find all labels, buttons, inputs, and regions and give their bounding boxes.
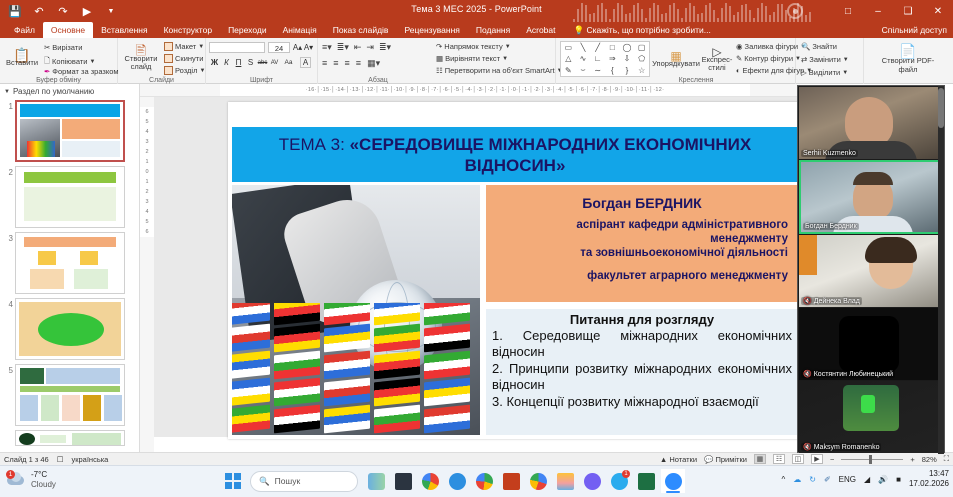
photo-flags — [232, 303, 480, 435]
powerpoint-icon[interactable] — [499, 469, 523, 493]
flag — [374, 405, 420, 434]
ribbon: 📋 Вставити ✂ Вирізати 🗋 Копіювати ▼ ✒ Фо… — [0, 38, 953, 84]
font-group-label: Шрифт — [206, 77, 317, 84]
clock[interactable]: 13:47 17.02.2026 — [909, 469, 949, 489]
weather-temp: -7°C — [31, 470, 56, 480]
character-spacing-button[interactable]: AV — [269, 57, 280, 68]
flag — [232, 378, 270, 407]
ribbon-display-options-icon[interactable]: □ — [833, 0, 863, 22]
shapes-gallery[interactable]: ▭ ╲ ╱ □ ◯ ▢ △ ∿ ∟ ⇒ ⇩ ⬠ ✎ ⌣ ∼ { } ☆ — [560, 41, 650, 77]
scissors-icon: ✂ — [44, 43, 50, 52]
slide-title[interactable]: ТЕМА 3: «СЕРЕДОВИЩЕ МІЖНАРОДНИХ ЕКОНОМІЧ… — [232, 127, 798, 182]
flag — [274, 351, 320, 380]
convert-smartart-button[interactable]: ☷ Перетворити на об'єкт SmartArt▼ — [436, 66, 563, 75]
weather-condition: Cloudy — [31, 480, 56, 490]
align-left-icon[interactable]: ≡ — [322, 58, 327, 69]
flag — [232, 405, 270, 434]
section-button[interactable]: Розділ▼ — [164, 66, 205, 75]
questions-title: Питання для розгляду — [492, 312, 792, 327]
font-name-input[interactable] — [209, 42, 265, 53]
tab-0[interactable]: Файл — [6, 22, 43, 38]
pen-icon[interactable]: ✐ — [824, 475, 831, 484]
powerpoint-window: 💾 ↶ ↷ ▶ ▼ Тема 3 МЕС 2025 - PowerPoint □… — [0, 0, 953, 497]
shape-arrow-icon[interactable]: ╱ — [590, 42, 605, 53]
numbering-icon[interactable]: ≣▾ — [337, 42, 349, 53]
start-button[interactable] — [222, 470, 244, 492]
list-item[interactable]: 1 — [0, 98, 139, 164]
participant-name: Serhii Kuzmenko — [801, 150, 858, 157]
text-direction-icon: ↷ — [436, 42, 442, 51]
align-center-icon[interactable]: ≡ — [333, 58, 338, 69]
slide-thumbnail[interactable] — [15, 364, 125, 426]
slide-canvas[interactable]: ТЕМА 3: «СЕРЕДОВИЩЕ МІЖНАРОДНИХ ЕКОНОМІЧ… — [154, 97, 804, 437]
shape-curve-icon[interactable]: ∿ — [576, 53, 591, 64]
shape-right-brace-icon[interactable]: } — [620, 65, 635, 76]
presenter-info-box[interactable]: Богдан БЕРДНИК аспірант кафедри адмініст… — [486, 185, 798, 302]
search-input[interactable]: 🔍 Пошук — [250, 471, 358, 492]
zoom-icon[interactable] — [661, 469, 685, 493]
slide-thumbnail[interactable] — [15, 100, 125, 162]
align-text-button[interactable]: ▦ Вирівняти текст▼ — [436, 54, 508, 63]
shape-wave-icon[interactable]: ∼ — [590, 65, 605, 76]
shape-left-brace-icon[interactable]: { — [605, 65, 620, 76]
line-spacing-icon[interactable]: ≣▾ — [379, 42, 391, 53]
question-item-3: 3. Концепції розвитку міжнародної взаємо… — [492, 394, 792, 410]
flag — [374, 351, 420, 380]
bullets-icon[interactable]: ≡▾ — [322, 42, 332, 53]
notes-button[interactable]: ▲ Нотатки — [660, 455, 697, 464]
participant-name: 🔇Костянтин Любинецький — [801, 370, 895, 378]
comments-button[interactable]: 💬 Примітки — [704, 455, 747, 464]
lightbulb-icon: 💡 — [574, 25, 585, 35]
shape-freeform-icon[interactable]: ✎ — [561, 65, 576, 76]
search-placeholder: Пошук — [275, 476, 301, 486]
font-size-input[interactable]: 24 — [268, 42, 290, 53]
flag — [424, 405, 470, 434]
bold-button[interactable]: Ж — [209, 57, 220, 68]
smartart-icon: ☷ — [436, 66, 443, 75]
ribbon-group-drawing: ▭ ╲ ╱ □ ◯ ▢ △ ∿ ∟ ⇒ ⇩ ⬠ ✎ ⌣ ∼ { } ☆ ▦ — [556, 38, 796, 84]
participant-name: 🔇Maksym Romanenko — [801, 443, 881, 451]
flag — [424, 303, 470, 325]
tab-2[interactable]: Вставлення — [93, 22, 155, 38]
badge: 1 — [622, 470, 630, 478]
presenter-name: Богдан БЕРДНИК — [496, 195, 788, 211]
replace-button[interactable]: ⇄ Замінити▼ — [801, 55, 849, 64]
horizontal-ruler-ticks: ·16·│·15·│·14·│·13·│·12·│·11·│·10·│·9·│·… — [220, 84, 750, 97]
video-scrollbar[interactable] — [938, 86, 944, 454]
align-right-icon[interactable]: ≡ — [345, 58, 350, 69]
video-tile[interactable]: Serhii Kuzmenko — [799, 87, 943, 159]
slide-thumbnail[interactable] — [15, 298, 125, 360]
fit-to-window-button[interactable]: ⛶ — [944, 454, 949, 464]
slide-title-main: «СЕРЕДОВИЩЕ МІЖНАРОДНИХ ЕКОНОМІЧНИХ ВІДН… — [350, 135, 752, 175]
increase-indent-icon[interactable]: ⇥ — [366, 42, 374, 53]
zoom-track — [841, 459, 903, 460]
file-explorer-icon[interactable] — [391, 469, 415, 493]
thumbnail-number: 3 — [2, 232, 13, 243]
format-painter-button[interactable]: ✒ Формат за зразком — [44, 67, 119, 76]
vertical-ruler: 6543210123456 — [140, 97, 154, 452]
cut-button[interactable]: ✂ Вирізати — [44, 43, 82, 52]
zoom-video-panel[interactable]: Serhii KuzmenkoБогдан Бердник🔇Дейнека Вл… — [797, 85, 945, 453]
share-button[interactable]: Спільний доступ — [882, 22, 947, 38]
thumbnail-number: 1 — [2, 100, 13, 111]
flag — [324, 378, 370, 407]
reset-icon — [164, 54, 173, 63]
replace-icon: ⇄ — [801, 55, 807, 64]
new-slide-button[interactable]: 🖹 Створити слайд — [121, 42, 161, 76]
zoom-slider[interactable] — [841, 454, 903, 464]
shape-star-icon[interactable]: ☆ — [634, 65, 649, 76]
list-item[interactable] — [0, 428, 139, 448]
decrease-indent-icon[interactable]: ⇤ — [354, 42, 362, 53]
flag — [274, 405, 320, 434]
status-bar: Слайд 1 з 46 ☐ українська ▲ Нотатки 💬 Пр… — [0, 452, 953, 465]
quick-styles-button[interactable]: ▷ Експрес-стилі — [700, 44, 734, 76]
video-tile[interactable]: 🔇Костянтин Любинецький — [799, 308, 943, 380]
shape-pentagon-icon[interactable]: ⬠ — [634, 53, 649, 64]
explorer-folder-icon[interactable] — [553, 469, 577, 493]
align-text-icon: ▦ — [436, 54, 443, 63]
pdf-icon: 📄 — [899, 47, 916, 56]
tab-4[interactable]: Переходи — [220, 22, 275, 38]
zoom-out-button[interactable]: − — [830, 455, 834, 464]
columns-icon[interactable]: ▦▾ — [367, 58, 380, 69]
collapse-icon[interactable]: ▼ — [4, 89, 10, 95]
shape-line-icon[interactable]: ╲ — [576, 42, 591, 53]
viber-icon[interactable] — [580, 469, 604, 493]
task-view-icon[interactable] — [364, 469, 388, 493]
list-item[interactable]: 4 — [0, 296, 139, 362]
ribbon-group-paragraph: ≡▾ ≣▾ ⇤ ⇥ ≣▾ ≡ ≡ ≡ ≡ ▦▾ ↷ Напрямок текст… — [318, 38, 556, 84]
paste-button[interactable]: 📋 Вставити — [4, 41, 40, 77]
tell-me-box[interactable]: 💡 Скажіть, що потрібно зробити... — [564, 22, 711, 38]
ribbon-tabs: ФайлОсновнеВставленняКонструкторПереходи… — [0, 22, 953, 38]
shape-elbow-icon[interactable]: ∟ — [590, 53, 605, 64]
spellcheck-icon[interactable]: ☐ — [57, 455, 64, 464]
flag — [324, 324, 370, 353]
list-item[interactable]: 2 — [0, 164, 139, 230]
shape-rect2-icon[interactable]: □ — [605, 42, 620, 53]
ribbon-group-slides: 🖹 Створити слайд Макет▼ Скинути Розділ▼ … — [118, 38, 206, 84]
layout-icon — [164, 42, 173, 51]
tab-9[interactable]: Acrobat — [518, 22, 563, 38]
active-indicator — [666, 491, 680, 493]
section-icon — [164, 66, 173, 75]
muted-icon: 🔇 — [803, 370, 812, 378]
section-label: Раздел по умолчанию — [13, 87, 94, 96]
paragraph-group-label: Абзац — [318, 77, 438, 84]
flag — [374, 378, 420, 407]
flag — [374, 324, 420, 353]
taskbar-center: 🔍 Пошук 1 — [222, 469, 685, 493]
current-slide[interactable]: ТЕМА 3: «СЕРЕДОВИЩЕ МІЖНАРОДНИХ ЕКОНОМІЧ… — [228, 102, 800, 439]
flag — [324, 351, 370, 380]
tab-6[interactable]: Показ слайдів — [325, 22, 397, 38]
shape-oval-icon[interactable]: ◯ — [620, 42, 635, 53]
flag — [424, 351, 470, 380]
font-color-button[interactable]: A — [300, 57, 311, 68]
flag — [274, 303, 320, 325]
search-icon: 🔍 — [801, 42, 810, 51]
shape-fill-icon: ◉ — [736, 42, 743, 51]
tray-chevron-icon[interactable]: ^ — [781, 475, 785, 484]
flag — [374, 303, 420, 325]
list-buttons[interactable]: ≡▾ ≣▾ ⇤ ⇥ ≣▾ — [322, 42, 391, 53]
section-header[interactable]: ▼ Раздел по умолчанию — [0, 84, 139, 98]
taskbar: 1 -7°C Cloudy 🔍 Пошук 1 ^ ☁ ↻ — [0, 465, 953, 497]
chrome-canary-icon[interactable] — [526, 469, 550, 493]
questions-box[interactable]: Питання для розгляду 1. Середовище міжна… — [486, 309, 798, 435]
zoom-in-button[interactable]: + — [910, 455, 914, 464]
video-tile[interactable]: Богдан Бердник — [799, 160, 943, 234]
shape-rect-icon[interactable]: ▭ — [561, 42, 576, 53]
restore-button[interactable]: ❑ — [893, 0, 923, 22]
minimize-button[interactable]: – — [863, 0, 893, 22]
select-button[interactable]: ▷ Виділити▼ — [801, 68, 848, 77]
flag — [324, 303, 370, 325]
thumbnail-number: 5 — [2, 364, 13, 375]
tab-8[interactable]: Подання — [468, 22, 518, 38]
layout-button[interactable]: Макет▼ — [164, 42, 204, 51]
shape-right-arrow-icon[interactable]: ⇒ — [605, 53, 620, 64]
telegram-icon[interactable]: 1 — [607, 469, 631, 493]
participant-name: Богдан Бердник — [803, 223, 859, 230]
participant-name: 🔇Дейнека Влад — [801, 297, 862, 305]
ribbon-group-clipboard: 📋 Вставити ✂ Вирізати 🗋 Копіювати ▼ ✒ Фо… — [0, 38, 118, 84]
paintbrush-icon: ✒ — [44, 67, 50, 76]
clock-date: 17.02.2026 — [909, 479, 949, 489]
slide-title-prefix: ТЕМА 3: — [279, 135, 350, 154]
zoom-knob[interactable] — [869, 455, 872, 464]
chrome-beta-icon[interactable] — [472, 469, 496, 493]
search-icon: 🔍 — [259, 476, 270, 487]
handshake-globe-photo — [232, 185, 480, 435]
flag — [232, 351, 270, 380]
window-controls: □ – ❑ ✕ — [833, 0, 953, 22]
flag — [232, 324, 270, 353]
reset-button[interactable]: Скинути — [164, 54, 203, 63]
slide-thumbnail[interactable] — [15, 430, 125, 446]
find-button[interactable]: 🔍 Знайти — [801, 42, 837, 51]
presenter-role-line1: аспірант кафедри адміністративного менед… — [496, 218, 788, 246]
italic-button[interactable]: К — [221, 57, 232, 68]
flag — [274, 324, 320, 353]
onedrive-icon[interactable]: ☁ — [793, 475, 801, 484]
increase-font-size-icon[interactable]: A▴ — [292, 42, 303, 53]
shape-outline-button[interactable]: ✎ Контур фігури▼ — [736, 54, 801, 63]
document-title: Тема 3 МЕС 2025 - PowerPoint — [0, 4, 953, 14]
battery-icon[interactable]: ■ — [896, 475, 901, 484]
volume-icon[interactable]: 🔊 — [878, 475, 888, 484]
presenter-role-line2: та зовнішньоекономічної діяльності — [496, 246, 788, 260]
muted-icon: 🔇 — [803, 297, 812, 305]
slide-thumbnail[interactable] — [15, 166, 125, 228]
list-item[interactable]: 3 — [0, 230, 139, 296]
thumbnail-number: 4 — [2, 298, 13, 309]
slide-sorter-view-button[interactable]: ☷ — [773, 454, 785, 464]
normal-view-button[interactable]: ▦ — [754, 454, 766, 464]
slides-group-label: Слайди — [118, 77, 205, 84]
zoom-level-label: 82% — [922, 455, 937, 464]
shape-arc-icon[interactable]: ⌣ — [576, 65, 591, 76]
reading-view-button[interactable]: ◫ — [792, 454, 804, 464]
create-pdf-button[interactable]: 📄 Створити PDF-файл — [878, 43, 938, 77]
close-button[interactable]: ✕ — [923, 0, 953, 22]
strikethrough-button[interactable]: abc — [257, 57, 268, 68]
ribbon-group-acrobat: 📄 Створити PDF-файл — [864, 38, 953, 84]
flag — [232, 303, 270, 325]
status-left: Слайд 1 з 46 ☐ українська — [4, 455, 108, 464]
question-item-2: 2. Принципи розвитку міжнародних економі… — [492, 361, 792, 393]
flag — [424, 378, 470, 407]
weather-text: -7°C Cloudy — [31, 470, 56, 490]
shape-effects-icon: ◐ — [736, 66, 741, 75]
wifi-icon[interactable]: ◢ — [864, 475, 870, 484]
change-case-button[interactable]: Aa — [283, 57, 294, 68]
text-shadow-button[interactable]: S — [245, 57, 256, 68]
tray-language[interactable]: ENG — [839, 475, 856, 484]
shape-roundrect-icon[interactable]: ▢ — [634, 42, 649, 53]
muted-icon: 🔇 — [803, 443, 812, 451]
list-item[interactable]: 5 — [0, 362, 139, 428]
title-bar: 💾 ↶ ↷ ▶ ▼ Тема 3 МЕС 2025 - PowerPoint □… — [0, 0, 953, 22]
flag — [324, 405, 370, 434]
shape-down-arrow-icon[interactable]: ⇩ — [620, 53, 635, 64]
shape-triangle-icon[interactable]: △ — [561, 53, 576, 64]
clipboard-group-label: Буфер обміну — [0, 77, 117, 84]
presenter-faculty: факультет аграрного менеджменту — [496, 270, 788, 282]
drawing-group-label: Креслення — [646, 77, 746, 84]
excel-icon[interactable] — [634, 469, 658, 493]
horizontal-ruler: ·16·│·15·│·14·│·13·│·12·│·11·│·10·│·9·│·… — [140, 84, 800, 97]
decrease-font-size-icon[interactable]: A▾ — [303, 42, 314, 53]
weather-widget[interactable]: 1 -7°C Cloudy — [6, 470, 56, 490]
thumbnail-number — [2, 430, 13, 432]
status-right: ▲ Нотатки 💬 Примітки ▦ ☷ ◫ ▶ − + 82% ⛶ — [660, 454, 949, 464]
vertical-ruler-ticks: 6543210123456 — [140, 107, 154, 237]
ribbon-group-font: 24 A▴ A▾ Ж К П S abc AV Aa A Шрифт — [206, 38, 318, 84]
slide-thumbnail-pane[interactable]: ▼ Раздел по умолчанию 12345 — [0, 84, 140, 452]
align-buttons[interactable]: ≡ ≡ ≡ ≡ ▦▾ — [322, 58, 380, 69]
language-label[interactable]: українська — [71, 455, 108, 464]
video-tile[interactable]: 🔇Maksym Romanenko — [799, 381, 943, 453]
settings-icon[interactable] — [445, 469, 469, 493]
select-icon: ▷ — [801, 68, 807, 77]
question-item-1: 1. Середовище міжнародних економічних ві… — [492, 328, 792, 360]
arrange-button[interactable]: ▦ Упорядкувати — [654, 44, 698, 76]
justify-icon[interactable]: ≡ — [356, 58, 361, 69]
slide-counter[interactable]: Слайд 1 з 46 — [4, 455, 49, 464]
weather-badge: 1 — [6, 470, 15, 479]
thumbnail-number: 2 — [2, 166, 13, 177]
system-tray: ^ ☁ ↻ ✐ ENG ◢ 🔊 ■ 13:47 17.02.2026 — [781, 469, 949, 489]
shape-outline-icon: ✎ — [736, 54, 742, 63]
slide-thumbnail[interactable] — [15, 232, 125, 294]
tab-1[interactable]: Основне — [43, 22, 93, 38]
weather-icon: 1 — [6, 470, 26, 490]
chrome-icon[interactable] — [418, 469, 442, 493]
flag — [274, 378, 320, 407]
underline-button[interactable]: П — [233, 57, 244, 68]
clock-time: 13:47 — [909, 469, 949, 479]
ribbon-group-editing: 🔍 Знайти ⇄ Замінити▼ ▷ Виділити▼ — [796, 38, 864, 84]
text-direction-button[interactable]: ↷ Напрямок тексту▼ — [436, 42, 511, 51]
update-icon[interactable]: ↻ — [809, 475, 816, 484]
video-tile[interactable]: 🔇Дейнека Влад — [799, 235, 943, 307]
slide-show-button[interactable]: ▶ — [811, 454, 823, 464]
tab-3[interactable]: Конструктор — [156, 22, 220, 38]
video-scrollbar-thumb[interactable] — [938, 88, 944, 128]
flag — [424, 324, 470, 353]
tab-7[interactable]: Рецензування — [396, 22, 467, 38]
tab-5[interactable]: Анімація — [275, 22, 325, 38]
